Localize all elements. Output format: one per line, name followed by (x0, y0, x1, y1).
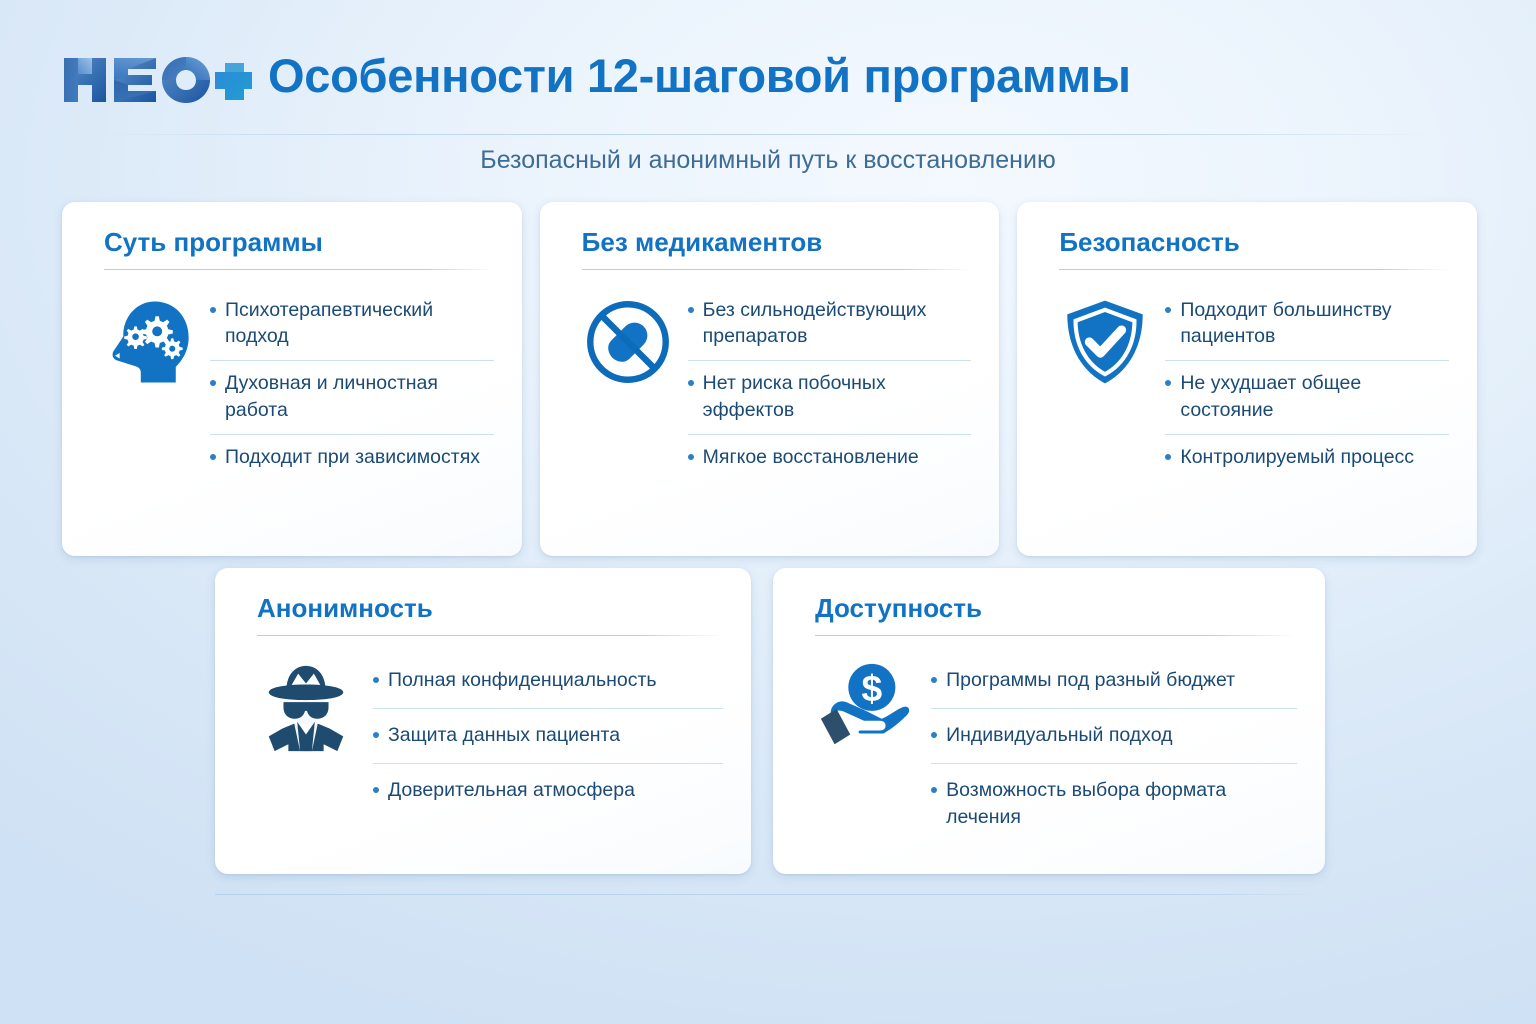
list-item-text: Контролируемый процесс (1180, 444, 1449, 470)
card-title-divider (1059, 269, 1449, 270)
list-item-text: Духовная и личностная работа (225, 370, 494, 423)
list-item: Духовная и личностная работа (210, 361, 494, 435)
list-item-text: Мягкое восстановление (703, 444, 972, 470)
card-title-divider (257, 635, 723, 636)
infographic-canvas: Особенности 12-шаговой программы Безопас… (0, 0, 1536, 1024)
list-item: Полная конфиденциальность (373, 654, 723, 709)
card-body: Полная конфиденциальность Защита данных … (257, 654, 723, 819)
list-item-text: Программы под разный бюджет (946, 667, 1297, 693)
bullet-dot-icon (210, 307, 216, 313)
card-title: Суть программы (104, 228, 494, 257)
bullet-dot-icon (931, 677, 937, 683)
header: Особенности 12-шаговой программы (0, 0, 1536, 136)
list-item: Подходит большинству пациентов (1165, 288, 1449, 362)
feature-card-no-medication[interactable]: Без медикаментов (540, 202, 1000, 556)
list-item-text: Подходит при зависимостях (225, 444, 494, 470)
list-item-text: Не ухудшает общее состояние (1180, 370, 1449, 423)
list-item: Индивидуальный подход (931, 709, 1297, 764)
cards-row-top: Суть программы (62, 202, 1477, 556)
list-item-text: Без сильнодействующих препаратов (703, 297, 972, 350)
bullet-dot-icon (1165, 307, 1171, 313)
cards-row-bottom: Анонимность (215, 568, 1325, 874)
card-title: Безопасность (1059, 228, 1449, 257)
list-item: Программы под разный бюджет (931, 654, 1297, 709)
list-item: Без сильнодействующих препаратов (688, 288, 972, 362)
no-pills-icon (582, 296, 674, 388)
list-item: Защита данных пациента (373, 709, 723, 764)
list-item-text: Нет риска побочных эффектов (703, 370, 972, 423)
bullet-dot-icon (688, 454, 694, 460)
page-title: Особенности 12-шаговой программы (268, 48, 1131, 103)
list-item: Контролируемый процесс (1165, 435, 1449, 481)
bullet-dot-icon (373, 677, 379, 683)
list-item: Доверительная атмосфера (373, 764, 723, 818)
bullet-dot-icon (1165, 380, 1171, 386)
list-item: Возможность выбора формата лечения (931, 764, 1297, 845)
card-bullet-list: Без сильнодействующих препаратов Нет рис… (688, 288, 972, 482)
card-bullet-list: Психотерапевтический подход Духовная и л… (210, 288, 494, 482)
hand-coin-icon: $ (815, 658, 913, 756)
bullet-dot-icon (210, 454, 216, 460)
svg-text:$: $ (862, 667, 883, 709)
card-title-divider (582, 269, 972, 270)
header-divider (96, 134, 1440, 135)
card-bullet-list: Полная конфиденциальность Защита данных … (373, 654, 723, 819)
head-gears-icon (104, 296, 196, 388)
bullet-dot-icon (931, 787, 937, 793)
card-title: Без медикаментов (582, 228, 972, 257)
bullet-dot-icon (1165, 454, 1171, 460)
shield-check-icon (1059, 296, 1151, 388)
list-item-text: Индивидуальный подход (946, 722, 1297, 748)
card-body: Психотерапевтический подход Духовная и л… (104, 288, 494, 482)
card-title: Анонимность (257, 594, 723, 623)
list-item-text: Доверительная атмосфера (388, 777, 723, 803)
list-item: Мягкое восстановление (688, 435, 972, 481)
card-body: $ Программы под разный бюджет Индиви (815, 654, 1297, 845)
bullet-dot-icon (373, 787, 379, 793)
footer-divider (215, 894, 1325, 895)
feature-card-safety[interactable]: Безопасность Подходит большинству пациен… (1017, 202, 1477, 556)
card-body: Подходит большинству пациентов Не ухудша… (1059, 288, 1449, 482)
list-item: Не ухудшает общее состояние (1165, 361, 1449, 435)
card-bullet-list: Программы под разный бюджет Индивидуальн… (931, 654, 1297, 845)
brand-logo-icon (62, 52, 252, 108)
list-item-text: Подходит большинству пациентов (1180, 297, 1449, 350)
list-item: Нет риска побочных эффектов (688, 361, 972, 435)
list-item-text: Возможность выбора формата лечения (946, 777, 1297, 830)
bullet-dot-icon (688, 380, 694, 386)
list-item-text: Психотерапевтический подход (225, 297, 494, 350)
list-item-text: Защита данных пациента (388, 722, 723, 748)
feature-card-affordability[interactable]: Доступность $ (773, 568, 1325, 874)
card-title: Доступность (815, 594, 1297, 623)
card-title-divider (815, 635, 1297, 636)
list-item: Подходит при зависимостях (210, 435, 494, 481)
feature-card-anonymity[interactable]: Анонимность (215, 568, 751, 874)
list-item: Психотерапевтический подход (210, 288, 494, 362)
page-subtitle: Безопасный и анонимный путь к восстановл… (0, 146, 1536, 175)
bullet-dot-icon (373, 732, 379, 738)
bullet-dot-icon (931, 732, 937, 738)
bullet-dot-icon (688, 307, 694, 313)
bullet-dot-icon (210, 380, 216, 386)
card-bullet-list: Подходит большинству пациентов Не ухудша… (1165, 288, 1449, 482)
feature-card-program-essence[interactable]: Суть программы (62, 202, 522, 556)
card-title-divider (104, 269, 494, 270)
spy-incognito-icon (257, 658, 355, 756)
list-item-text: Полная конфиденциальность (388, 667, 723, 693)
card-body: Без сильнодействующих препаратов Нет рис… (582, 288, 972, 482)
